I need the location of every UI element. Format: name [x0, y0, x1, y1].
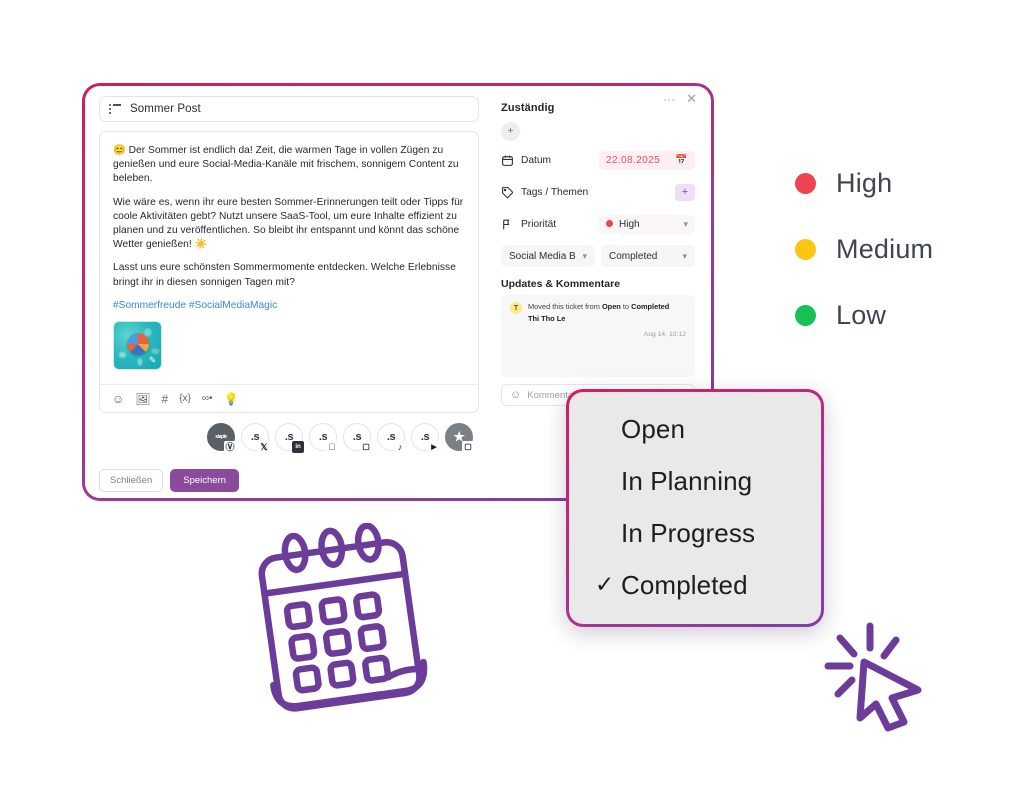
- chevron-down-icon[interactable]: ▾: [683, 219, 688, 230]
- post-content-body[interactable]: 😊 Der Sommer ist endlich da! Zeit, die w…: [100, 132, 478, 384]
- dropdown-option-in-progress[interactable]: In Progress: [569, 519, 821, 548]
- legend-label-medium: Medium: [836, 234, 933, 265]
- post-title-text: Sommer Post: [130, 103, 201, 115]
- calendar-illustration: [248, 523, 438, 738]
- dropdown-option-completed[interactable]: ✓ Completed: [569, 571, 821, 600]
- save-button[interactable]: Speichern: [170, 469, 239, 492]
- update-to-status: Completed: [631, 302, 669, 311]
- update-timestamp: Aug 14, 10:12: [528, 331, 686, 338]
- post-content-editor[interactable]: 😊 Der Sommer ist endlich da! Zeit, die w…: [99, 131, 479, 413]
- instagram-icon: ▢: [360, 441, 372, 453]
- add-assignee-button[interactable]: +: [501, 122, 520, 141]
- field-tags[interactable]: Tags / Themen +: [501, 179, 695, 205]
- facebook-icon: : [326, 441, 338, 453]
- more-options-icon[interactable]: ···: [663, 93, 675, 105]
- post-paragraph-3: Lasst uns eure schönsten Sommermomente e…: [113, 261, 465, 289]
- close-button[interactable]: Schließen: [99, 469, 163, 492]
- status-select-value: Completed: [609, 251, 657, 262]
- instagram-account[interactable]: .s ▢: [343, 423, 371, 451]
- post-paragraph-1: 😊 Der Sommer ist endlich da! Zeit, die w…: [113, 144, 465, 187]
- legend-label-low: Low: [836, 300, 886, 331]
- idea-icon[interactable]: 💡: [224, 393, 239, 405]
- avatar: T: [510, 302, 522, 314]
- legend-label-high: High: [836, 168, 892, 199]
- update-text-prefix: Moved this ticket from: [528, 302, 602, 311]
- pinterest-icon: Ⓥ: [224, 441, 236, 453]
- status-select[interactable]: Completed ▾: [601, 245, 695, 267]
- update-from-status: Open: [602, 302, 621, 311]
- close-icon[interactable]: ✕: [686, 92, 697, 105]
- facebook-account[interactable]: .s : [309, 423, 337, 451]
- flag-icon: [501, 218, 514, 231]
- emoji-icon[interactable]: ☺: [510, 389, 521, 401]
- beach-ball-icon: [127, 333, 149, 355]
- linkedin-icon: in: [292, 441, 304, 453]
- update-author: Thi Tho Le: [528, 314, 686, 323]
- tiktok-icon: ♪: [394, 441, 406, 453]
- instagram-account-2[interactable]: ★ ▢: [445, 423, 473, 451]
- update-text-mid: to: [621, 302, 631, 311]
- dropdown-option-open[interactable]: Open: [569, 415, 821, 444]
- youtube-account[interactable]: .s ▶: [411, 423, 439, 451]
- update-item: T Moved this ticket from Open to Complet…: [510, 302, 686, 338]
- status-dropdown: Open In Planning In Progress ✓ Completed: [566, 389, 824, 627]
- emoji-icon[interactable]: ☺: [112, 393, 124, 405]
- post-hashtags[interactable]: #Sommerfreude #SocialMediaMagic: [113, 299, 465, 313]
- variable-icon[interactable]: {x}: [179, 394, 191, 404]
- instagram-icon-2: ▢: [462, 441, 474, 453]
- chevron-down-icon: ▾: [582, 251, 587, 262]
- image-icon[interactable]: 🖼: [135, 393, 150, 405]
- update-text: Moved this ticket from Open to Completed: [528, 302, 686, 312]
- linkedin-account[interactable]: .s in: [275, 423, 303, 451]
- legend-item-medium: Medium: [795, 216, 933, 282]
- screenshot-root: Sommer Post 😊 Der Sommer ist endlich da!…: [0, 0, 1024, 800]
- datum-value-chip[interactable]: 22.08.2025 📅: [599, 151, 695, 170]
- click-cursor-illustration: [818, 618, 938, 738]
- chevron-down-icon: ▾: [682, 251, 687, 262]
- updates-list: T Moved this ticket from Open to Complet…: [501, 295, 695, 377]
- legend-item-low: Low: [795, 282, 933, 348]
- hashtag-icon[interactable]: #: [162, 393, 169, 405]
- priority-dot-medium: [795, 239, 816, 260]
- legend-item-high: High: [795, 150, 933, 216]
- field-label-prioritaet: Priorität: [521, 219, 556, 230]
- priority-dot-low: [795, 305, 816, 326]
- dropdown-option-label: Open: [621, 414, 685, 444]
- priority-value: High: [619, 219, 640, 230]
- tag-icon: [501, 186, 514, 199]
- link-icon[interactable]: ∞•: [202, 394, 213, 404]
- tiktok-account[interactable]: .s ♪: [377, 423, 405, 451]
- priority-legend: High Medium Low: [795, 150, 933, 348]
- add-tag-button[interactable]: +: [675, 184, 695, 201]
- priority-dot-high: [795, 173, 816, 194]
- channel-select[interactable]: Social Media B ▾: [501, 245, 595, 267]
- post-paragraph-2: Wie wäre es, wenn ihr eure besten Sommer…: [113, 196, 465, 253]
- post-title-field[interactable]: Sommer Post: [99, 96, 479, 122]
- updates-heading: Updates & Kommentare: [501, 278, 695, 290]
- dropdown-option-label: In Planning: [621, 466, 752, 496]
- datum-value: 22.08.2025: [606, 155, 660, 166]
- pinterest-account[interactable]: staple Ⓥ: [207, 423, 235, 451]
- card-footer: Schließen Speichern: [99, 469, 479, 492]
- field-datum[interactable]: Datum 22.08.2025 📅: [501, 147, 695, 173]
- field-label-tags: Tags / Themen: [521, 187, 588, 198]
- edit-image-icon[interactable]: ✎: [147, 355, 158, 366]
- check-icon: ✓: [595, 572, 614, 598]
- dropdown-option-label: In Progress: [621, 518, 755, 548]
- x-twitter-account[interactable]: .s 𝕏: [241, 423, 269, 451]
- post-attachment-thumbnail[interactable]: ✎: [113, 321, 162, 370]
- list-icon: [109, 104, 121, 114]
- calendar-icon: [501, 154, 514, 167]
- x-icon: 𝕏: [258, 441, 270, 453]
- field-label-datum: Datum: [521, 155, 551, 166]
- editor-toolbar: ☺ 🖼 # {x} ∞• 💡: [100, 384, 478, 412]
- window-controls: ··· ✕: [663, 92, 697, 105]
- post-editor-left-column: Sommer Post 😊 Der Sommer ist endlich da!…: [85, 86, 489, 498]
- priority-value-chip[interactable]: High ▾: [599, 215, 695, 234]
- selectors-row: Social Media B ▾ Completed ▾: [501, 245, 695, 267]
- youtube-icon: ▶: [428, 441, 440, 453]
- priority-dot-high: [606, 220, 613, 227]
- social-accounts-row: staple Ⓥ .s 𝕏 .s in .s : [99, 423, 479, 451]
- dropdown-option-in-planning[interactable]: In Planning: [569, 467, 821, 496]
- field-prioritaet[interactable]: Priorität High ▾: [501, 211, 695, 237]
- date-picker-icon[interactable]: 📅: [675, 155, 688, 166]
- dropdown-option-label: Completed: [621, 570, 748, 600]
- channel-select-value: Social Media B: [509, 251, 576, 262]
